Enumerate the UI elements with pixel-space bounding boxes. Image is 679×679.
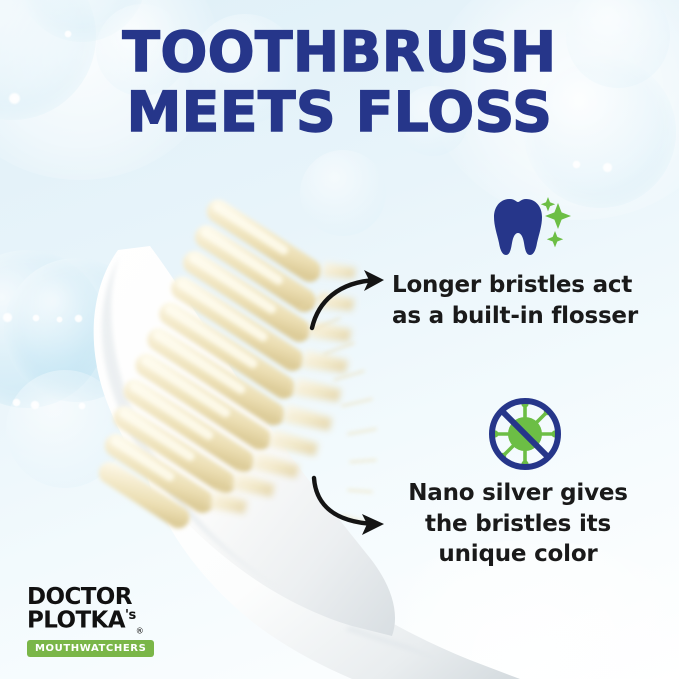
bubble <box>300 150 386 236</box>
logo-badge-mouthwatchers: MOUTHWATCHERS <box>27 640 154 657</box>
product-infographic: TOOTHBRUSH MEETS FLOSS <box>0 0 679 679</box>
logo-line-plotka: PLOTKA's® <box>27 609 154 635</box>
tooth-sparkle-icon <box>486 193 578 259</box>
feature-2-line-2: the bristles its <box>392 509 644 540</box>
feature-1-line-2: as a built-in flosser <box>392 301 658 332</box>
bubble <box>0 250 106 408</box>
headline-line-2: MEETS FLOSS <box>0 86 679 140</box>
curved-arrow-up-right-icon <box>306 266 398 334</box>
feature-2-line-3: unique color <box>392 539 644 570</box>
logo-plotka-text: PLOTKA <box>27 608 125 634</box>
bubble <box>6 370 124 488</box>
feature-2-line-1: Nano silver gives <box>392 478 644 509</box>
no-germs-icon <box>483 397 567 471</box>
logo-line-doctor: DOCTOR <box>27 586 154 609</box>
feature-1-text: Longer bristles act as a built-in flosse… <box>392 270 658 331</box>
logo-apostrophe-s: 's <box>125 608 136 623</box>
bubble <box>4 258 148 402</box>
feature-1-line-1: Longer bristles act <box>392 270 658 301</box>
feature-longer-bristles: Longer bristles act as a built-in flosse… <box>392 270 658 331</box>
headline: TOOTHBRUSH MEETS FLOSS <box>0 26 679 140</box>
logo-registered-mark: ® <box>136 626 143 635</box>
feature-2-text: Nano silver gives the bristles its uniqu… <box>392 478 644 570</box>
curved-arrow-down-right-icon <box>306 472 398 538</box>
feature-nano-silver: Nano silver gives the bristles its uniqu… <box>392 478 644 570</box>
headline-line-1: TOOTHBRUSH <box>0 26 679 80</box>
brand-logo: DOCTOR PLOTKA's® MOUTHWATCHERS <box>27 586 154 657</box>
